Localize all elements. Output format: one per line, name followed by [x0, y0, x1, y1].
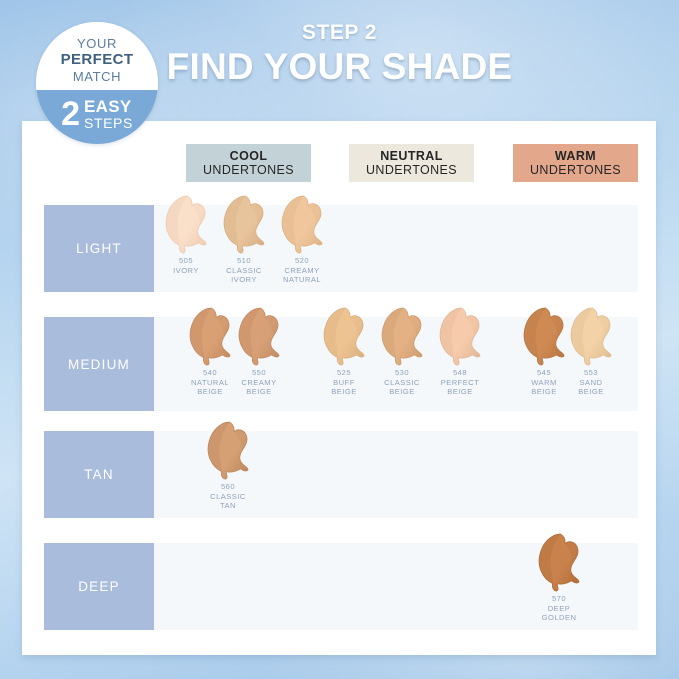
shade-caption-553: 553SANDBEIGE — [559, 368, 623, 397]
undertone-name: COOL — [230, 149, 268, 163]
shade-caption-548: 548PERFECTBEIGE — [428, 368, 492, 397]
foundation-smear-icon — [154, 193, 218, 255]
badge-bottom-half: 2 EASY STEPS — [36, 90, 158, 144]
shade-name-line1: IVORY — [154, 266, 218, 276]
shade-name-line2: GOLDEN — [527, 613, 591, 623]
shade-caption-525: 525BUFFBEIGE — [312, 368, 376, 397]
row-label-text: TAN — [84, 467, 114, 482]
shade-caption-560: 560CLASSICTAN — [196, 482, 260, 511]
badge-line-match: MATCH — [73, 69, 121, 84]
shade-swatch-510[interactable]: 510CLASSICIVORY — [212, 193, 276, 285]
shade-name-line2: BEIGE — [559, 387, 623, 397]
badge-steps-wrap: EASY STEPS — [84, 98, 133, 130]
undertone-sublabel: UNDERTONES — [530, 163, 621, 177]
shade-name-line2: BEIGE — [428, 387, 492, 397]
shade-code: 550 — [227, 368, 291, 378]
undertone-sublabel: UNDERTONES — [203, 163, 294, 177]
undertone-name: WARM — [555, 149, 596, 163]
shade-caption-550: 550CREAMYBEIGE — [227, 368, 291, 397]
shade-code: 570 — [527, 594, 591, 604]
shade-swatch-560[interactable]: 560CLASSICTAN — [196, 419, 260, 511]
shade-code: 525 — [312, 368, 376, 378]
shade-name-line1: SAND — [559, 378, 623, 388]
shade-code: 520 — [270, 256, 334, 266]
row-label-text: MEDIUM — [68, 357, 130, 372]
shade-code: 505 — [154, 256, 218, 266]
shade-swatch-553[interactable]: 553SANDBEIGE — [559, 305, 623, 397]
undertone-name: NEUTRAL — [380, 149, 443, 163]
shade-smear-530 — [370, 305, 434, 367]
shade-swatch-530[interactable]: 530CLASSICBEIGE — [370, 305, 434, 397]
foundation-smear-icon — [270, 193, 334, 255]
foundation-smear-icon — [527, 531, 591, 593]
shade-swatch-550[interactable]: 550CREAMYBEIGE — [227, 305, 291, 397]
shade-smear-510 — [212, 193, 276, 255]
shade-name-line2: BEIGE — [312, 387, 376, 397]
foundation-smear-icon — [559, 305, 623, 367]
shade-smear-560 — [196, 419, 260, 481]
shade-code: 553 — [559, 368, 623, 378]
shade-name-line2: BEIGE — [370, 387, 434, 397]
foundation-smear-icon — [227, 305, 291, 367]
shade-caption-520: 520CREAMYNATURAL — [270, 256, 334, 285]
shade-name-line1: DEEP — [527, 604, 591, 614]
shade-name-line2: IVORY — [212, 275, 276, 285]
shade-name-line2: TAN — [196, 501, 260, 511]
shade-code: 530 — [370, 368, 434, 378]
badge-top-half: YOUR PERFECT MATCH — [36, 22, 158, 90]
badge-easy-label: EASY — [84, 98, 133, 115]
shade-name-line1: BUFF — [312, 378, 376, 388]
shade-row-light: LIGHT 505IVORY 510CLASSICIVORY — [44, 205, 638, 292]
row-label-box-medium: MEDIUM — [44, 317, 154, 411]
shade-name-line1: CLASSIC — [196, 492, 260, 502]
badge-steps-label: STEPS — [84, 116, 133, 130]
shade-swatch-520[interactable]: 520CREAMYNATURAL — [270, 193, 334, 285]
shade-row-medium: MEDIUM 540NATURALBEIGE 550CREAMYBEIGE — [44, 317, 638, 411]
badge-line-your: YOUR — [77, 36, 117, 51]
shade-smear-520 — [270, 193, 334, 255]
row-label-box-deep: DEEP — [44, 543, 154, 630]
shade-caption-510: 510CLASSICIVORY — [212, 256, 276, 285]
undertone-sublabel: UNDERTONES — [366, 163, 457, 177]
undertone-header-warm: WARM UNDERTONES — [513, 144, 638, 182]
foundation-smear-icon — [212, 193, 276, 255]
shade-swatch-525[interactable]: 525BUFFBEIGE — [312, 305, 376, 397]
row-label-box-light: LIGHT — [44, 205, 154, 292]
shade-smear-505 — [154, 193, 218, 255]
shade-name-line1: CREAMY — [270, 266, 334, 276]
infographic-canvas: STEP 2 FIND YOUR SHADE YOUR PERFECT MATC… — [0, 0, 679, 679]
shade-name-line1: PERFECT — [428, 378, 492, 388]
shade-swatch-505[interactable]: 505IVORY — [154, 193, 218, 275]
row-label-text: DEEP — [78, 579, 120, 594]
row-label-text: LIGHT — [76, 241, 122, 256]
shade-smear-553 — [559, 305, 623, 367]
row-label-box-tan: TAN — [44, 431, 154, 518]
undertone-header-neutral: NEUTRAL UNDERTONES — [349, 144, 474, 182]
undertone-header-cool: COOL UNDERTONES — [186, 144, 311, 182]
shade-swatch-570[interactable]: 570DEEPGOLDEN — [527, 531, 591, 623]
shade-caption-570: 570DEEPGOLDEN — [527, 594, 591, 623]
shade-code: 510 — [212, 256, 276, 266]
shade-smear-548 — [428, 305, 492, 367]
shade-smear-550 — [227, 305, 291, 367]
shade-caption-505: 505IVORY — [154, 256, 218, 275]
shade-smear-570 — [527, 531, 591, 593]
shade-name-line1: CLASSIC — [212, 266, 276, 276]
foundation-smear-icon — [428, 305, 492, 367]
shade-name-line1: CREAMY — [227, 378, 291, 388]
shade-caption-530: 530CLASSICBEIGE — [370, 368, 434, 397]
shade-code: 560 — [196, 482, 260, 492]
shade-chart-card: COOL UNDERTONES NEUTRAL UNDERTONES WARM … — [22, 121, 656, 655]
badge-step-number: 2 — [61, 99, 80, 130]
badge-line-perfect: PERFECT — [61, 51, 134, 69]
shade-smear-525 — [312, 305, 376, 367]
shade-name-line2: NATURAL — [270, 275, 334, 285]
foundation-smear-icon — [196, 419, 260, 481]
undertone-header-row: COOL UNDERTONES NEUTRAL UNDERTONES WARM … — [22, 144, 656, 182]
shade-swatch-548[interactable]: 548PERFECTBEIGE — [428, 305, 492, 397]
shade-row-tan: TAN 560CLASSICTAN — [44, 431, 638, 518]
shade-name-line2: BEIGE — [227, 387, 291, 397]
shade-code: 548 — [428, 368, 492, 378]
shade-row-deep: DEEP 570DEEPGOLDEN — [44, 543, 638, 630]
perfect-match-badge: YOUR PERFECT MATCH 2 EASY STEPS — [36, 22, 158, 144]
shade-name-line1: CLASSIC — [370, 378, 434, 388]
foundation-smear-icon — [312, 305, 376, 367]
foundation-smear-icon — [370, 305, 434, 367]
